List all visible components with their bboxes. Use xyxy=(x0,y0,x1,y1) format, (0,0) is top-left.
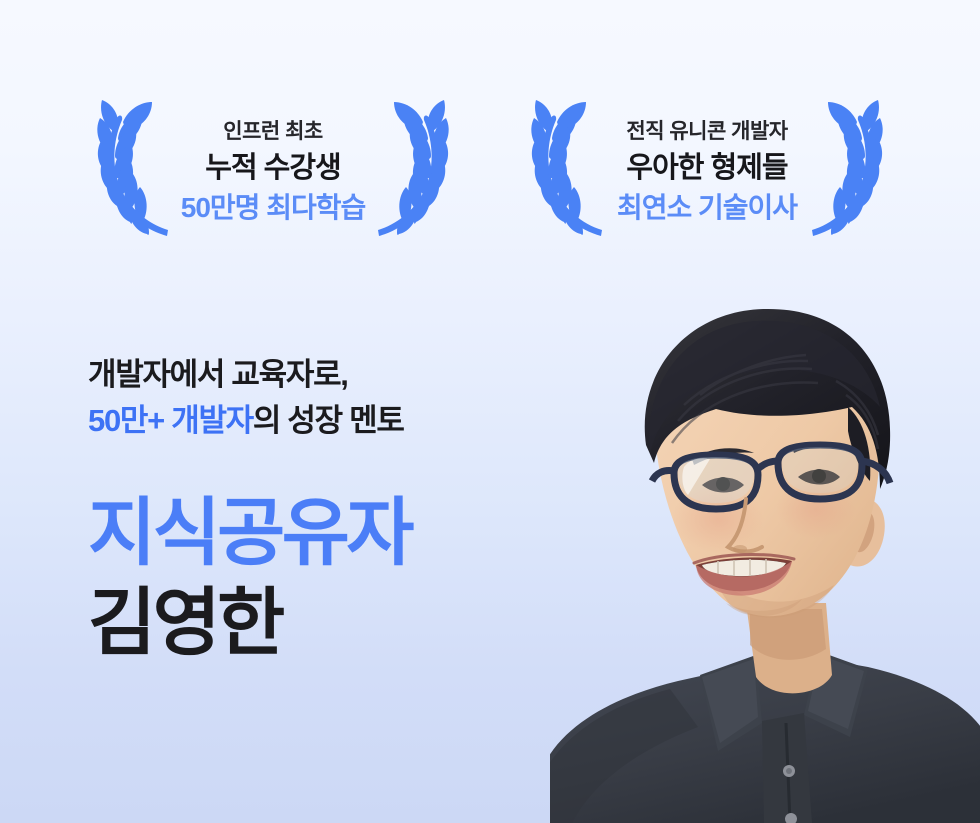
badge-sub-label: 최연소 기술이사 xyxy=(617,190,797,225)
headline-block: 개발자에서 교육자로, 50만+ 개발자의 성장 멘토 지식공유자 김영한 xyxy=(88,352,608,668)
headline-line-1: 개발자에서 교육자로, xyxy=(88,352,608,398)
badge-main-label: 우아한 형제들 xyxy=(626,150,787,186)
title-block: 지식공유자 김영한 xyxy=(88,488,608,669)
headline-line-2: 50만+ 개발자의 성장 멘토 xyxy=(88,398,608,444)
title-line-role: 지식공유자 xyxy=(88,488,608,578)
badge-kicker: 전직 유니콘 개발자 xyxy=(626,119,787,145)
laurel-branch-icon xyxy=(529,96,607,248)
headline-highlight: 50만+ 개발자 xyxy=(88,403,253,438)
promo-banner: 인프런 최초 누적 수강생 50만명 최다학습 xyxy=(0,0,980,823)
headline-rest: 의 성장 멘토 xyxy=(253,403,404,438)
achievement-badge-row: 인프런 최초 누적 수강생 50만명 최다학습 xyxy=(0,96,980,248)
laurel-branch-icon xyxy=(95,96,173,248)
achievement-badge-2-text: 전직 유니콘 개발자 우아한 형제들 최연소 기술이사 xyxy=(609,119,805,225)
badge-sub-label: 50만명 최다학습 xyxy=(181,190,366,225)
person-portrait xyxy=(550,303,980,823)
person-portrait-icon xyxy=(550,303,980,823)
title-line-name: 김영한 xyxy=(88,578,608,668)
achievement-badge-1-text: 인프런 최초 누적 수강생 50만명 최다학습 xyxy=(175,119,371,225)
laurel-branch-icon xyxy=(373,96,451,248)
badge-main-label: 누적 수강생 xyxy=(205,150,340,186)
achievement-badge-2: 전직 유니콘 개발자 우아한 형제들 최연소 기술이사 xyxy=(529,96,885,248)
laurel-branch-icon xyxy=(807,96,885,248)
badge-kicker: 인프런 최초 xyxy=(223,119,322,145)
achievement-badge-1: 인프런 최초 누적 수강생 50만명 최다학습 xyxy=(95,96,451,248)
